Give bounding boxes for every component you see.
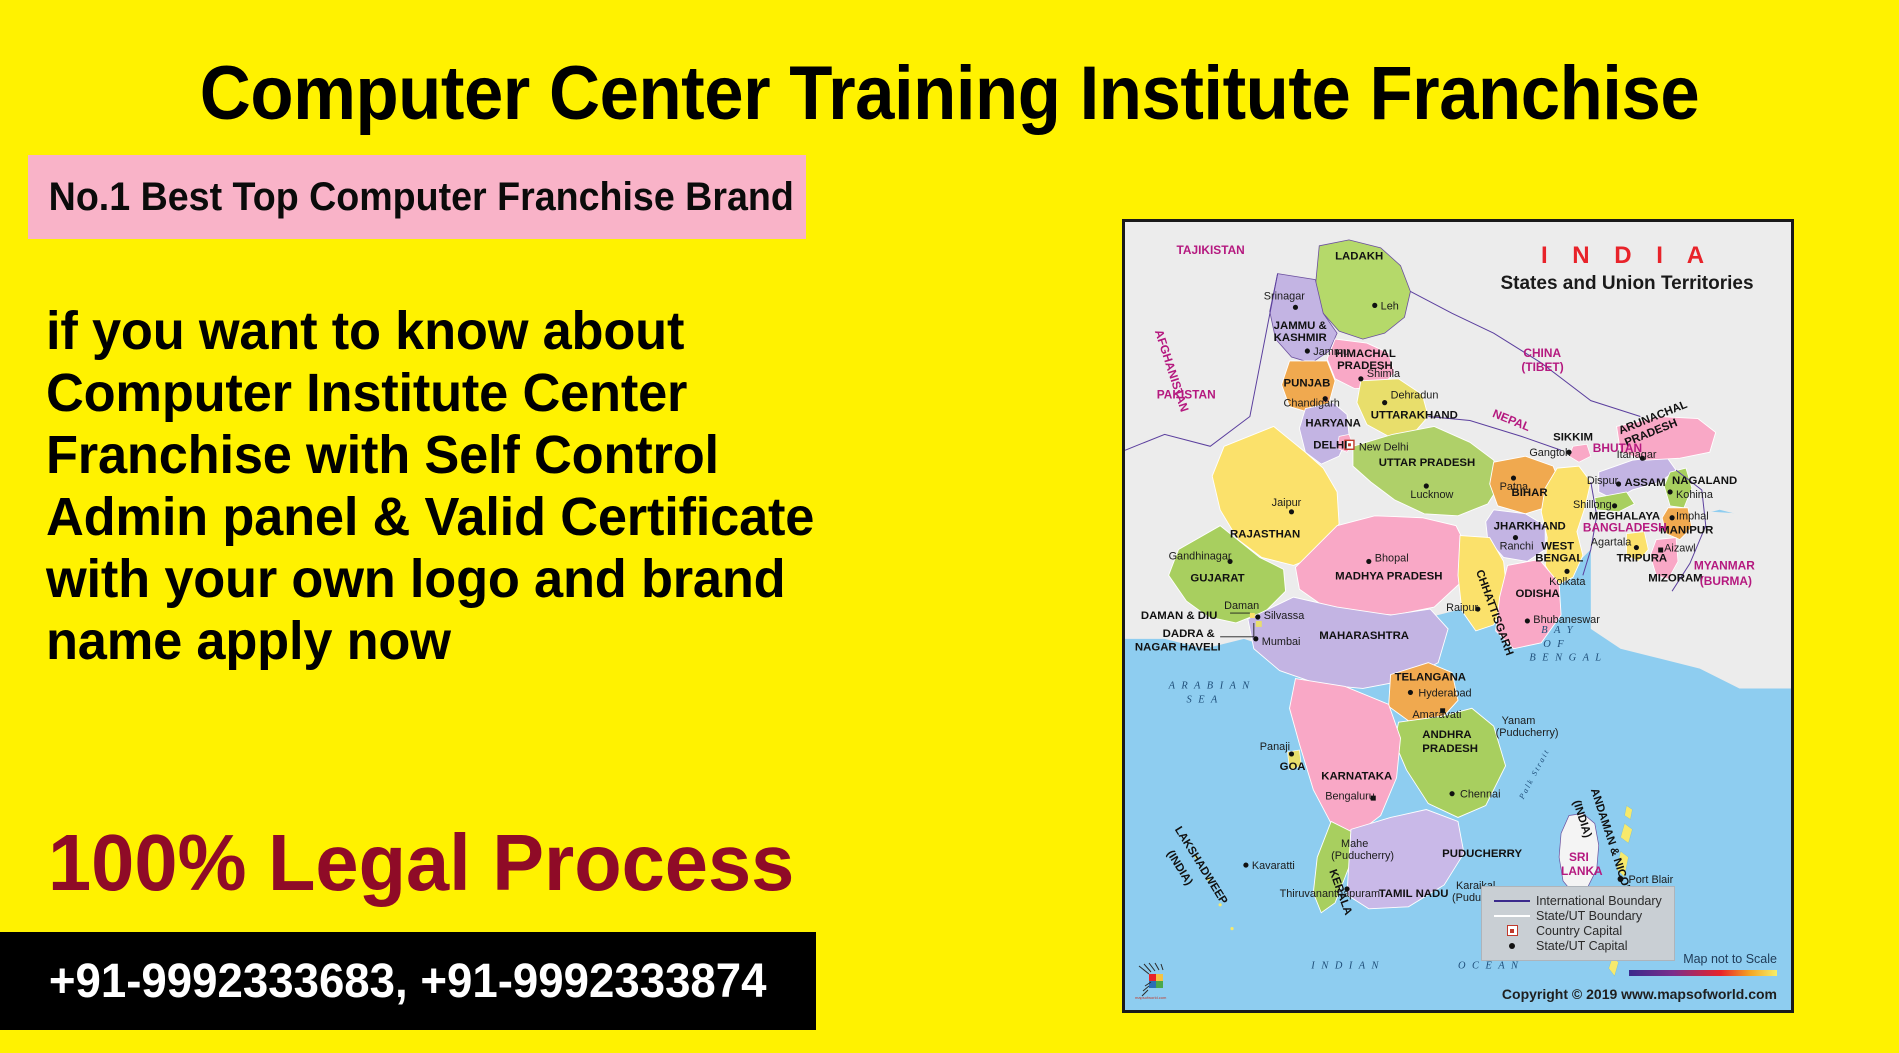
map-label-andhra-2: PRADESH: [1422, 743, 1478, 755]
map-city-dispur: Dispur: [1587, 475, 1619, 487]
map-city-gandhinagar: Gandhinagar: [1169, 550, 1232, 562]
body-line-3: Franchise with Self Control: [46, 424, 851, 486]
map-label-gujarat: GUJARAT: [1190, 572, 1244, 584]
map-label-nagaland: NAGALAND: [1672, 475, 1737, 487]
country-capital-square-icon: [1488, 925, 1536, 936]
legend-row-state-capital: State/UT Capital: [1488, 938, 1668, 953]
map-water-arabian-1: A R A B I A N: [1168, 680, 1252, 691]
body-line-2: Computer Institute Center: [46, 362, 851, 424]
map-label-rajasthan: RAJASTHAN: [1230, 529, 1300, 541]
map-label-telangana: TELANGANA: [1395, 672, 1466, 684]
map-city-yanam-1: Yanam: [1502, 715, 1536, 727]
map-label-dnh-1: DADRA &: [1163, 628, 1215, 640]
page-title: Computer Center Training Institute Franc…: [66, 52, 1832, 136]
map-city-chandigarh: Chandigarh: [1284, 398, 1340, 410]
body-line-4: Admin panel & Valid Certificate: [46, 486, 851, 548]
legend-row-state-boundary: State/UT Boundary: [1488, 908, 1668, 923]
map-city-srinagar: Srinagar: [1264, 290, 1306, 302]
map-country-pakistan: PAKISTAN: [1157, 388, 1216, 402]
map-label-jk-2: KASHMIR: [1274, 332, 1327, 344]
map-label-punjab: PUNJAB: [1284, 378, 1331, 390]
map-label-andhra-1: ANDHRA: [1422, 729, 1471, 741]
svg-text:mapsofworld.com: mapsofworld.com: [1135, 995, 1167, 1000]
map-label-jharkhand: JHARKHAND: [1494, 521, 1566, 533]
map-label-delhi: DELHI: [1313, 439, 1347, 451]
map-city-aizawl: Aizawl: [1664, 542, 1695, 554]
contact-bar[interactable]: +91-9992333683, +91-9992333874: [0, 932, 816, 1030]
map-city-bengaluru: Bengaluru: [1325, 791, 1375, 803]
tagline-banner: No.1 Best Top Computer Franchise Brand: [28, 155, 806, 239]
map-city-chennai: Chennai: [1460, 789, 1501, 801]
map-label-maharashtra: MAHARASHTRA: [1319, 630, 1409, 642]
map-label-manipur: MANIPUR: [1660, 525, 1713, 537]
map-city-new-delhi: New Delhi: [1359, 441, 1409, 453]
map-city-yanam-2: (Puducherry): [1496, 727, 1559, 739]
body-copy: if you want to know about Computer Insti…: [46, 300, 876, 672]
map-city-kavaratti: Kavaratti: [1252, 860, 1295, 872]
map-city-port-blair: Port Blair: [1628, 874, 1673, 886]
map-label-puducherry: PUDUCHERRY: [1442, 848, 1522, 860]
map-city-shillong: Shillong: [1573, 499, 1612, 511]
legend-label-country-capital: Country Capital: [1536, 924, 1622, 938]
map-copyright: Copyright © 2019 www.mapsofworld.com: [1502, 986, 1777, 1002]
map-label-goa: GOA: [1280, 761, 1306, 773]
map-water-bay-1: B A Y: [1541, 625, 1574, 636]
map-country-china-1: CHINA: [1523, 346, 1561, 360]
body-line-6: name apply now: [46, 610, 851, 672]
map-city-imphal: Imphal: [1676, 511, 1709, 523]
map-water-ocean: O C E A N: [1458, 960, 1520, 971]
map-city-patna: Patna: [1500, 481, 1529, 493]
map-label-uttarakhand: UTTARAKHAND: [1371, 409, 1458, 421]
map-city-silvassa: Silvassa: [1264, 610, 1305, 622]
legend-label-state-boundary: State/UT Boundary: [1536, 909, 1642, 923]
map-label-odisha: ODISHA: [1515, 588, 1559, 600]
map-label-mizoram: MIZORAM: [1648, 572, 1702, 584]
map-water-arabian-2: S E A: [1186, 694, 1219, 705]
map-city-mahe-2: (Puducherry): [1331, 850, 1394, 862]
map-city-hyderabad: Hyderabad: [1418, 687, 1471, 699]
map-city-mumbai: Mumbai: [1262, 636, 1301, 648]
map-label-assam: ASSAM: [1625, 477, 1666, 489]
map-city-raipur: Raipur: [1446, 602, 1478, 614]
map-country-myanmar-2: (BURMA): [1700, 574, 1752, 588]
map-label-dnh-2: NAGAR HAVELI: [1135, 642, 1221, 654]
state-boundary-line-icon: [1488, 915, 1536, 917]
international-boundary-line-icon: [1488, 900, 1536, 902]
map-city-mahe-1: Mahe: [1341, 838, 1368, 850]
map-city-kohima: Kohima: [1676, 489, 1714, 501]
map-country-srilanka-2: LANKA: [1561, 864, 1603, 878]
phone-numbers[interactable]: +91-9992333683, +91-9992333874: [49, 954, 767, 1009]
mapsofworld-logo-icon: mapsofworld.com: [1135, 960, 1175, 1000]
map-city-kolkata: Kolkata: [1549, 576, 1586, 588]
map-label-tamilnadu: TAMIL NADU: [1379, 888, 1449, 900]
map-country-bangladesh: BANGLADESH: [1583, 521, 1667, 535]
map-label-haryana: HARYANA: [1305, 417, 1360, 429]
legend-label-state-capital: State/UT Capital: [1536, 939, 1627, 953]
legend-row-international-boundary: International Boundary: [1488, 893, 1668, 908]
map-legend: International Boundary State/UT Boundary…: [1481, 886, 1675, 961]
map-water-bay-3: B E N G A L: [1529, 653, 1603, 664]
map-label-sikkim: SIKKIM: [1553, 431, 1593, 443]
map-city-panaji: Panaji: [1260, 741, 1290, 753]
map-country-china-2: (TIBET): [1521, 360, 1563, 374]
map-city-daman: Daman: [1224, 600, 1259, 612]
map-water-indian: I N D I A N: [1310, 960, 1380, 971]
map-water-bay-2: O F: [1543, 639, 1565, 650]
map-city-jammu: Jammu: [1313, 346, 1349, 358]
map-scale-bar: [1629, 970, 1777, 976]
map-label-jk-1: JAMMU &: [1274, 320, 1327, 332]
map-label-mp: MADHYA PRADESH: [1335, 570, 1442, 582]
india-map-svg: LADAKH JAMMU & KASHMIR HIMACHAL PRADESH …: [1125, 222, 1791, 1010]
map-label-karnataka: KARNATAKA: [1321, 771, 1392, 783]
map-city-jaipur: Jaipur: [1272, 497, 1302, 509]
map-city-dehradun: Dehradun: [1391, 390, 1439, 402]
map-city-bhopal: Bhopal: [1375, 552, 1409, 564]
india-map: LADAKH JAMMU & KASHMIR HIMACHAL PRADESH …: [1122, 219, 1794, 1013]
map-label-ladakh: LADAKH: [1335, 251, 1383, 263]
map-country-tajikistan: TAJIKISTAN: [1177, 243, 1245, 257]
map-scale-note: Map not to Scale: [1683, 952, 1777, 966]
legal-process-badge: 100% Legal Process: [48, 820, 794, 906]
map-city-leh: Leh: [1381, 300, 1399, 312]
map-city-agartala: Agartala: [1591, 537, 1632, 549]
map-city-amaravati: Amaravati: [1412, 709, 1461, 721]
map-country-bhutan: BHUTAN: [1593, 441, 1642, 455]
state-capital-dot-icon: [1488, 943, 1536, 949]
map-city-lucknow: Lucknow: [1410, 489, 1453, 501]
map-label-up: UTTAR PRADESH: [1379, 457, 1476, 469]
map-label-daman-diu: DAMAN & DIU: [1141, 610, 1218, 622]
map-country-srilanka-1: SRI: [1569, 850, 1589, 864]
map-city-ranchi: Ranchi: [1500, 541, 1534, 553]
map-city-gangtok: Gangtok: [1529, 447, 1571, 459]
map-city-shimla: Shimla: [1367, 368, 1401, 380]
body-line-5: with your own logo and brand: [46, 548, 851, 610]
legend-label-international-boundary: International Boundary: [1536, 894, 1662, 908]
map-label-wb-2: BENGAL: [1535, 552, 1583, 564]
map-country-myanmar-1: MYANMAR: [1694, 558, 1755, 572]
body-line-1: if you want to know about: [46, 300, 851, 362]
map-label-wb-1: WEST: [1541, 541, 1574, 553]
map-label-tripura: TRIPURA: [1617, 552, 1668, 564]
tagline-text: No.1 Best Top Computer Franchise Brand: [28, 175, 794, 220]
map-city-thiruvananthapuram: Thiruvananthapuram: [1280, 888, 1380, 900]
legend-row-country-capital: Country Capital: [1488, 923, 1668, 938]
